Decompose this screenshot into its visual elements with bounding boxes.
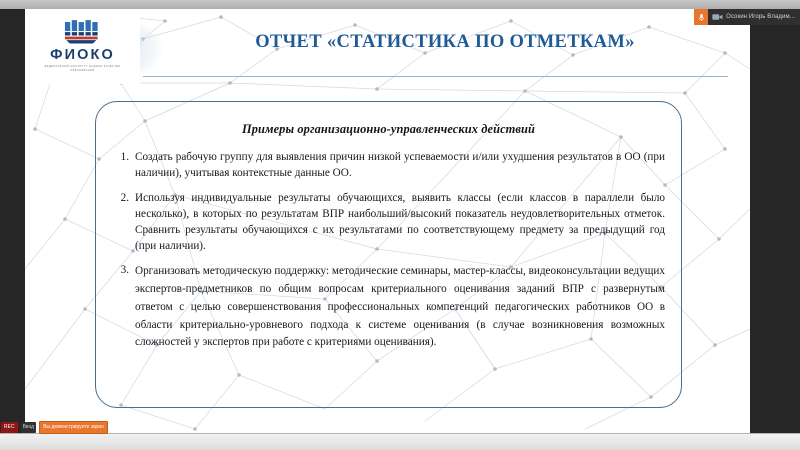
action-examples-list: 1. Создать рабочую группу для выявления …: [96, 150, 681, 352]
window-titlebar: [0, 0, 800, 9]
os-taskbar[interactable]: [0, 433, 800, 450]
card-heading: Примеры организационно-управленческих де…: [96, 122, 681, 137]
list-item-text: Организовать методическую поддержку: мет…: [135, 263, 665, 351]
list-item: 2. Используя индивидуальные результаты о…: [112, 191, 665, 255]
input-indicator-badge[interactable]: Ввод: [21, 422, 37, 433]
list-item: 3. Организовать методическую поддержку: …: [112, 263, 665, 351]
stage-right-letterbox: [750, 9, 800, 434]
camera-icon: [712, 13, 723, 21]
fioko-book-logo-icon: [64, 20, 102, 44]
logo-tagline: ФЕДЕРАЛЬНЫЙ ИНСТИТУТ ОЦЕНКИ КАЧЕСТВА ОБР…: [41, 65, 125, 73]
logo-wordmark: ФИОКО: [50, 48, 115, 63]
screen-sharing-badge[interactable]: Вы демонстрируете экран: [39, 421, 108, 434]
title-underline-rule: [143, 76, 728, 77]
slide-header: ФИОКО ФЕДЕРАЛЬНЫЙ ИНСТИТУТ ОЦЕНКИ КАЧЕСТ…: [25, 9, 750, 84]
fioko-logo: ФИОКО ФЕДЕРАЛЬНЫЙ ИНСТИТУТ ОЦЕНКИ КАЧЕСТ…: [25, 9, 140, 84]
recording-indicator-badge[interactable]: REC: [1, 422, 18, 433]
list-item-text: Создать рабочую группу для выявления при…: [135, 150, 665, 182]
list-item-number: 1.: [112, 150, 135, 166]
participant-tile[interactable]: Осокин Игорь Владим...: [694, 9, 800, 25]
slide-title: ОТЧЕТ «СТАТИСТИКА ПО ОТМЕТКАМ»: [140, 9, 750, 75]
microphone-icon: [698, 13, 705, 22]
list-item-number: 2.: [112, 191, 135, 207]
list-item-number: 3.: [112, 263, 135, 279]
content-card: Примеры организационно-управленческих де…: [95, 101, 682, 408]
titlebar-surface: [0, 0, 800, 9]
participant-name-label: Осокин Игорь Владим...: [726, 9, 795, 25]
microphone-toggle-button[interactable]: [694, 9, 708, 25]
participant-info[interactable]: Осокин Игорь Владим...: [708, 9, 800, 25]
conference-app-window: Осокин Игорь Владим...: [0, 0, 800, 450]
list-item-text: Используя индивидуальные результаты обуч…: [135, 191, 665, 255]
list-item: 1. Создать рабочую группу для выявления …: [112, 150, 665, 182]
shared-slide: ФИОКО ФЕДЕРАЛЬНЫЙ ИНСТИТУТ ОЦЕНКИ КАЧЕСТ…: [25, 9, 750, 433]
stage-left-letterbox: [0, 9, 25, 434]
status-tray: REC Ввод Вы демонстрируете экран: [0, 421, 108, 434]
